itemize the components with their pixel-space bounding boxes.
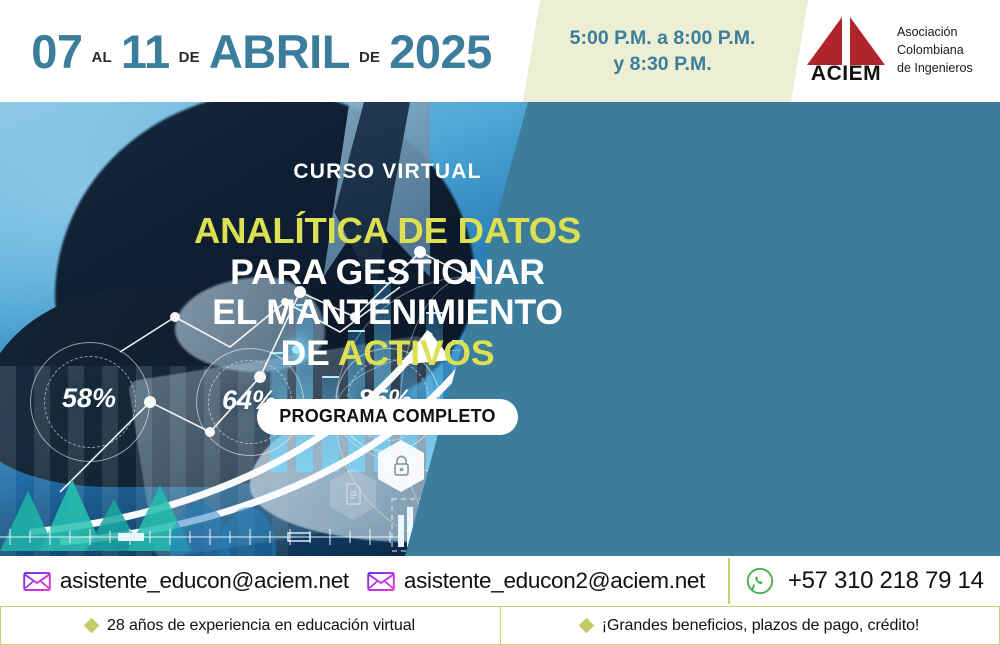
date-connector-al: AL — [92, 49, 112, 66]
email-icon — [23, 570, 51, 592]
course-title-line-4-prefix: DE — [281, 333, 338, 373]
diamond-bullet-icon — [84, 618, 100, 634]
aciem-triangle-icon — [805, 15, 887, 65]
aciem-name-line-1: Asociación — [897, 24, 973, 42]
benefits-bar: 28 años de experiencia en educación virt… — [0, 606, 1000, 645]
date-connector-de-year: DE — [359, 49, 380, 66]
hero-band: 58% 64% 85% — [0, 102, 1000, 556]
course-title: ANALÍTICA DE DATOS PARA GESTIONAR EL MAN… — [194, 210, 581, 373]
course-title-line-4-highlight: ACTIVOS — [338, 333, 494, 373]
contact-emails-group: asistente_educon@aciem.net asistente_edu… — [0, 556, 728, 606]
email-icon — [367, 570, 395, 592]
contact-row: asistente_educon@aciem.net asistente_edu… — [0, 556, 1000, 606]
aciem-name-line-3: de Ingenieros — [897, 60, 973, 78]
date-year: 2025 — [389, 28, 492, 75]
aciem-wordmark: ACIEM — [805, 63, 887, 84]
programa-completo-badge[interactable]: PROGRAMA COMPLETO — [257, 399, 517, 435]
schedule-line-1: 5:00 P.M. a 8:00 P.M. — [570, 27, 756, 50]
contact-email-1[interactable]: asistente_educon@aciem.net — [23, 568, 349, 594]
contact-email-2-text: asistente_educon2@aciem.net — [404, 568, 705, 594]
date-day-start: 07 — [31, 28, 82, 75]
benefit-item-2: ¡Grandes beneficios, plazos de pago, cré… — [500, 606, 1000, 645]
benefit-item-1-text: 28 años de experiencia en educación virt… — [107, 617, 415, 635]
aciem-logo: ACIEM Asociación Colombiana de Ingeniero… — [805, 0, 1000, 102]
course-kicker: CURSO VIRTUAL — [293, 160, 481, 184]
schedule-times: 5:00 P.M. a 8:00 P.M. y 8:30 P.M. — [545, 0, 780, 102]
benefit-item-1: 28 años de experiencia en educación virt… — [0, 606, 500, 645]
date-day-end: 11 — [121, 28, 170, 75]
course-title-line-1: ANALÍTICA DE DATOS — [194, 210, 581, 252]
course-title-line-3: EL MANTENIMIENTO — [194, 292, 581, 332]
contact-email-1-text: asistente_educon@aciem.net — [60, 568, 349, 594]
benefit-item-2-text: ¡Grandes beneficios, plazos de pago, cré… — [602, 617, 919, 635]
course-title-line-4: DE ACTIVOS — [194, 333, 581, 373]
aciem-full-name: Asociación Colombiana de Ingenieros — [897, 24, 973, 77]
schedule-line-2: y 8:30 P.M. — [613, 53, 711, 76]
aciem-logo-mark: ACIEM — [805, 15, 887, 87]
course-title-line-2: PARA GESTIONAR — [194, 252, 581, 292]
date-connector-de-month: DE — [179, 49, 200, 66]
header-bar: 07 AL 11 DE ABRIL DE 2025 5:00 P.M. a 8:… — [0, 0, 1000, 102]
event-date: 07 AL 11 DE ABRIL DE 2025 — [0, 0, 523, 102]
contact-phone[interactable]: +57 310 218 79 14 — [730, 556, 1000, 606]
aciem-name-line-2: Colombiana — [897, 42, 973, 60]
date-month: ABRIL — [209, 28, 350, 75]
contact-phone-text: +57 310 218 79 14 — [788, 567, 984, 595]
course-panel-content: CURSO VIRTUAL ANALÍTICA DE DATOS PARA GE… — [155, 102, 620, 556]
diamond-bullet-icon — [578, 618, 594, 634]
contact-email-2[interactable]: asistente_educon2@aciem.net — [367, 568, 705, 594]
whatsapp-icon — [746, 567, 774, 595]
